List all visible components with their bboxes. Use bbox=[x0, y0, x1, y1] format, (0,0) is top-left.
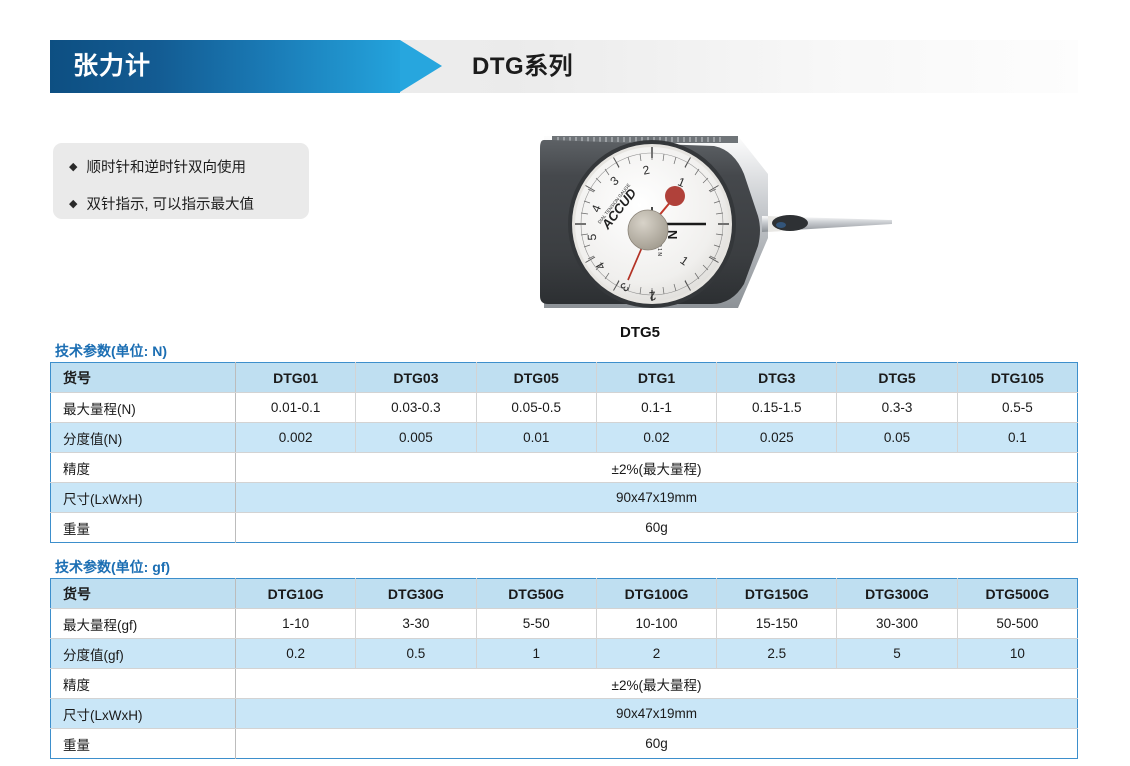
table-cell: 10-100 bbox=[596, 609, 716, 639]
table-cell: 2.5 bbox=[717, 639, 837, 669]
table-cell: 0.15-1.5 bbox=[717, 393, 837, 423]
table-row: 最大量程(N) 0.01-0.1 0.03-0.3 0.05-0.5 0.1-1… bbox=[51, 393, 1078, 423]
table-cell-merged: ±2%(最大量程) bbox=[236, 669, 1078, 699]
feature-list: ◆ 顺时针和逆时针双向使用 ◆ 双针指示, 可以指示最大值 bbox=[53, 143, 309, 219]
table-n-title: 技术参数(单位: N) bbox=[55, 341, 167, 361]
series-title: DTG系列 bbox=[472, 40, 573, 93]
page-banner: 张力计 DTG系列 bbox=[50, 40, 1078, 93]
table-cell-merged: 90x47x19mm bbox=[236, 483, 1078, 513]
table-cell-merged: ±2%(最大量程) bbox=[236, 453, 1078, 483]
column-header: DTG3 bbox=[717, 363, 837, 393]
table-cell: 1 bbox=[476, 639, 596, 669]
table-cell: 50-500 bbox=[957, 609, 1077, 639]
column-header: DTG05 bbox=[476, 363, 596, 393]
table-row: 尺寸(LxWxH) 90x47x19mm bbox=[51, 483, 1078, 513]
table-row: 重量 60g bbox=[51, 729, 1078, 759]
table-cell-merged: 60g bbox=[236, 513, 1078, 543]
table-row: 分度值(gf) 0.2 0.5 1 2 2.5 5 10 bbox=[51, 639, 1078, 669]
table-cell: 3-30 bbox=[356, 609, 476, 639]
table-cell: 0.05 bbox=[837, 423, 957, 453]
table-row: 最大量程(gf) 1-10 3-30 5-50 10-100 15-150 30… bbox=[51, 609, 1078, 639]
table-cell: 0.1-1 bbox=[596, 393, 716, 423]
product-image: 3 2 1 4 5 4 3 2 1 ACCUD DIAL TENSION GAU… bbox=[500, 112, 900, 342]
diamond-bullet-icon: ◆ bbox=[69, 197, 77, 210]
table-header-row: 货号 DTG10G DTG30G DTG50G DTG100G DTG150G … bbox=[51, 579, 1078, 609]
column-header: DTG100G bbox=[596, 579, 716, 609]
table-cell: 5 bbox=[837, 639, 957, 669]
table-header-row: 货号 DTG01 DTG03 DTG05 DTG1 DTG3 DTG5 DTG1… bbox=[51, 363, 1078, 393]
list-item: ◆ 顺时针和逆时针双向使用 bbox=[53, 152, 309, 180]
row-label: 尺寸(LxWxH) bbox=[51, 483, 236, 513]
table-cell: 15-150 bbox=[717, 609, 837, 639]
column-header: DTG10G bbox=[236, 579, 356, 609]
table-cell: 0.03-0.3 bbox=[356, 393, 476, 423]
feature-text: 双针指示, 可以指示最大值 bbox=[86, 193, 254, 214]
list-item: ◆ 双针指示, 可以指示最大值 bbox=[53, 189, 309, 217]
table-cell: 0.5 bbox=[356, 639, 476, 669]
feature-text: 顺时针和逆时针双向使用 bbox=[86, 156, 246, 177]
spec-table-newtons: 货号 DTG01 DTG03 DTG05 DTG1 DTG3 DTG5 DTG1… bbox=[50, 362, 1078, 543]
table-row: 精度 ±2%(最大量程) bbox=[51, 453, 1078, 483]
table-cell: 1-10 bbox=[236, 609, 356, 639]
table-cell-merged: 90x47x19mm bbox=[236, 699, 1078, 729]
table-cell: 0.01 bbox=[476, 423, 596, 453]
row-label: 分度值(gf) bbox=[51, 639, 236, 669]
banner-arrow-icon bbox=[400, 40, 442, 92]
table-row: 精度 ±2%(最大量程) bbox=[51, 669, 1078, 699]
column-header: DTG03 bbox=[356, 363, 476, 393]
table-cell: 0.02 bbox=[596, 423, 716, 453]
table-cell: 0.025 bbox=[717, 423, 837, 453]
table-cell: 0.01-0.1 bbox=[236, 393, 356, 423]
column-header: DTG50G bbox=[476, 579, 596, 609]
row-label: 最大量程(N) bbox=[51, 393, 236, 423]
product-caption: DTG5 bbox=[500, 324, 780, 341]
svg-text:5: 5 bbox=[585, 233, 599, 240]
table-cell-merged: 60g bbox=[236, 729, 1078, 759]
table-row: 尺寸(LxWxH) 90x47x19mm bbox=[51, 699, 1078, 729]
diamond-bullet-icon: ◆ bbox=[69, 160, 77, 173]
table-cell: 0.005 bbox=[356, 423, 476, 453]
row-label: 重量 bbox=[51, 729, 236, 759]
row-label: 重量 bbox=[51, 513, 236, 543]
column-header: DTG1 bbox=[596, 363, 716, 393]
column-header: 货号 bbox=[51, 363, 236, 393]
column-header: DTG5 bbox=[837, 363, 957, 393]
table-row: 重量 60g bbox=[51, 513, 1078, 543]
column-header: DTG300G bbox=[837, 579, 957, 609]
column-header: DTG105 bbox=[957, 363, 1077, 393]
column-header: 货号 bbox=[51, 579, 236, 609]
column-header: DTG01 bbox=[236, 363, 356, 393]
table-cell: 0.2 bbox=[236, 639, 356, 669]
row-label: 精度 bbox=[51, 669, 236, 699]
row-label: 尺寸(LxWxH) bbox=[51, 699, 236, 729]
row-label: 分度值(N) bbox=[51, 423, 236, 453]
spec-table-gramforce: 货号 DTG10G DTG30G DTG50G DTG100G DTG150G … bbox=[50, 578, 1078, 759]
product-datasheet-page: 张力计 DTG系列 ◆ 顺时针和逆时针双向使用 ◆ 双针指示, 可以指示最大值 bbox=[0, 0, 1130, 766]
table-cell: 10 bbox=[957, 639, 1077, 669]
table-cell: 0.5-5 bbox=[957, 393, 1077, 423]
table-cell: 0.3-3 bbox=[837, 393, 957, 423]
table-cell: 2 bbox=[596, 639, 716, 669]
table-row: 分度值(N) 0.002 0.005 0.01 0.02 0.025 0.05 … bbox=[51, 423, 1078, 453]
table-cell: 30-300 bbox=[837, 609, 957, 639]
table-cell: 0.05-0.5 bbox=[476, 393, 596, 423]
column-header: DTG30G bbox=[356, 579, 476, 609]
table-cell: 5-50 bbox=[476, 609, 596, 639]
row-label: 精度 bbox=[51, 453, 236, 483]
table-cell: 0.1 bbox=[957, 423, 1077, 453]
column-header: DTG500G bbox=[957, 579, 1077, 609]
table-cell: 0.002 bbox=[236, 423, 356, 453]
column-header: DTG150G bbox=[717, 579, 837, 609]
row-label: 最大量程(gf) bbox=[51, 609, 236, 639]
table-gf-title: 技术参数(单位: gf) bbox=[55, 557, 170, 577]
page-title: 张力计 bbox=[73, 40, 151, 93]
